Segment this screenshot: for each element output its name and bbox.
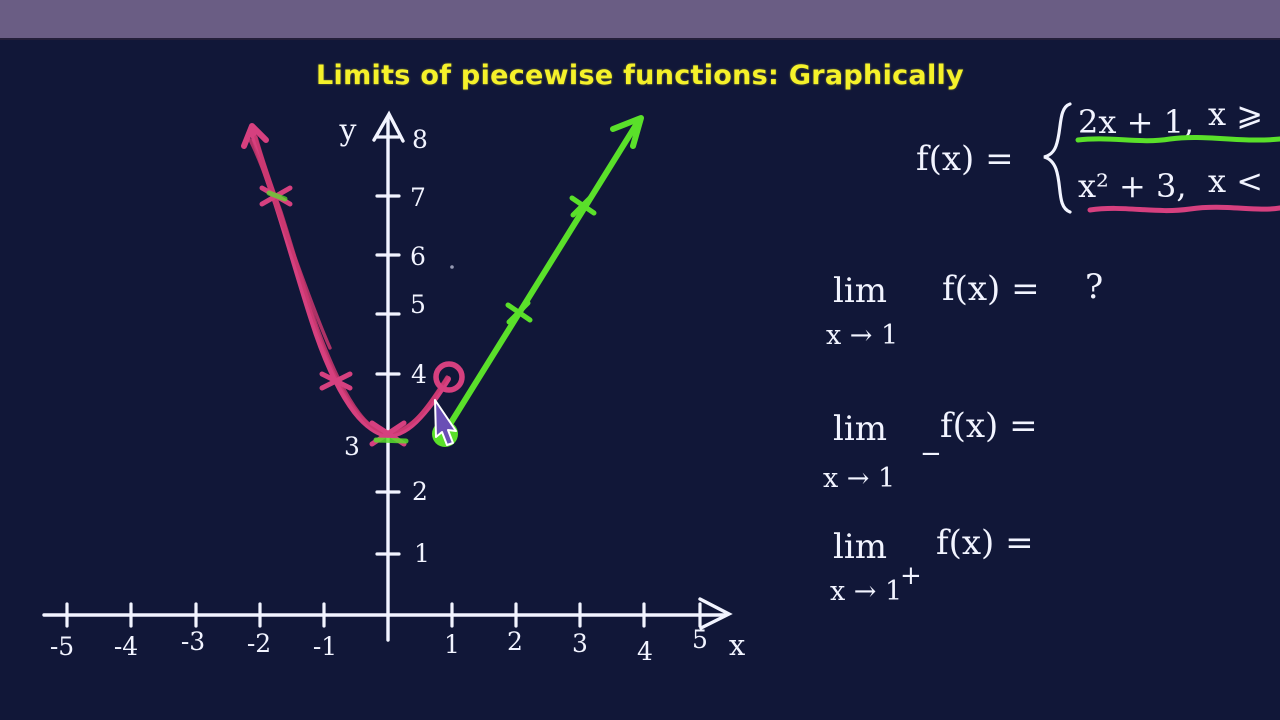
y-tick-label: 3: [344, 432, 360, 461]
limit-1-result: ?: [1085, 267, 1103, 307]
limit-expression-right-hand: lim x → 1 + f(x) =: [830, 523, 1034, 607]
x-tick-label: 3: [572, 629, 588, 658]
limit-expression-two-sided: lim x → 1 f(x) = ?: [826, 267, 1103, 351]
piecewise-fname: f(x) =: [916, 139, 1014, 179]
y-tick-label: 2: [412, 477, 428, 506]
limit-3-lim: lim: [833, 527, 887, 567]
piecewise-branch1-expression: 2x + 1,: [1078, 103, 1194, 141]
y-tick-label: 6: [410, 242, 426, 271]
chalk-speck: [450, 265, 454, 269]
x-tick-label: 2: [507, 627, 523, 656]
limit-2-superscript: −: [920, 439, 942, 469]
branch1-underline: [1078, 137, 1280, 140]
limit-1-body: f(x) =: [942, 269, 1040, 309]
y-tick-label: 4: [411, 360, 427, 389]
limit-3-body: f(x) =: [936, 523, 1034, 563]
x-tick-label: -4: [114, 632, 138, 661]
limit-3-superscript: +: [900, 561, 922, 591]
y-axis-label: y: [339, 113, 357, 148]
limit-1-subscript: x → 1: [826, 320, 898, 351]
y-tick-label: 5: [410, 290, 426, 319]
limit-3-subscript: x → 1: [830, 576, 902, 607]
piecewise-branch2-expression: x² + 3,: [1078, 167, 1187, 205]
x-tick-label: -2: [247, 629, 271, 658]
ray-stroke: [447, 125, 636, 429]
piecewise-definition: f(x) = 2x + 1, x ⩾ x² + 3, x <: [916, 95, 1280, 212]
axes: [44, 114, 729, 640]
piecewise-branch1-condition: x ⩾: [1208, 95, 1263, 133]
x-tick-label: 5: [692, 625, 708, 654]
y-tick-label: 1: [414, 539, 430, 568]
x-axis-label: x: [729, 628, 745, 662]
piecewise-brace: [1044, 104, 1070, 212]
limit-2-subscript: x → 1: [823, 463, 895, 494]
branch2-underline: [1090, 207, 1280, 210]
x-axis-tick-labels: -5 -4 -3 -2 -1 1 2 3 4 5 x: [50, 625, 745, 666]
limit-1-lim: lim: [833, 271, 887, 311]
x-tick-label: -3: [181, 627, 205, 656]
x-tick-label: -1: [313, 632, 337, 661]
y-tick-label: 8: [412, 125, 428, 154]
screen-root: Limits of piecewise functions: Graphical…: [0, 0, 1280, 720]
whiteboard-canvas: .ax { stroke:#f2f4ff; stroke-width:3.4; …: [0, 0, 1280, 720]
piecewise-branch2-condition: x <: [1208, 162, 1263, 200]
y-axis-tick-labels: 1 2 3 4 5 6 7 8 y: [339, 113, 430, 568]
y-tick-label: 7: [410, 183, 426, 212]
x-tick-label: -5: [50, 632, 74, 661]
line-2x-plus-1: [432, 118, 641, 447]
x-tick-label: 4: [637, 637, 653, 666]
limit-2-lim: lim: [833, 409, 887, 449]
parabola-stroke-overdraw-2: [250, 140, 330, 348]
x-tick-label: 1: [444, 630, 460, 659]
limit-expression-left-hand: lim x → 1 − f(x) =: [823, 406, 1038, 494]
limit-2-body: f(x) =: [940, 406, 1038, 446]
